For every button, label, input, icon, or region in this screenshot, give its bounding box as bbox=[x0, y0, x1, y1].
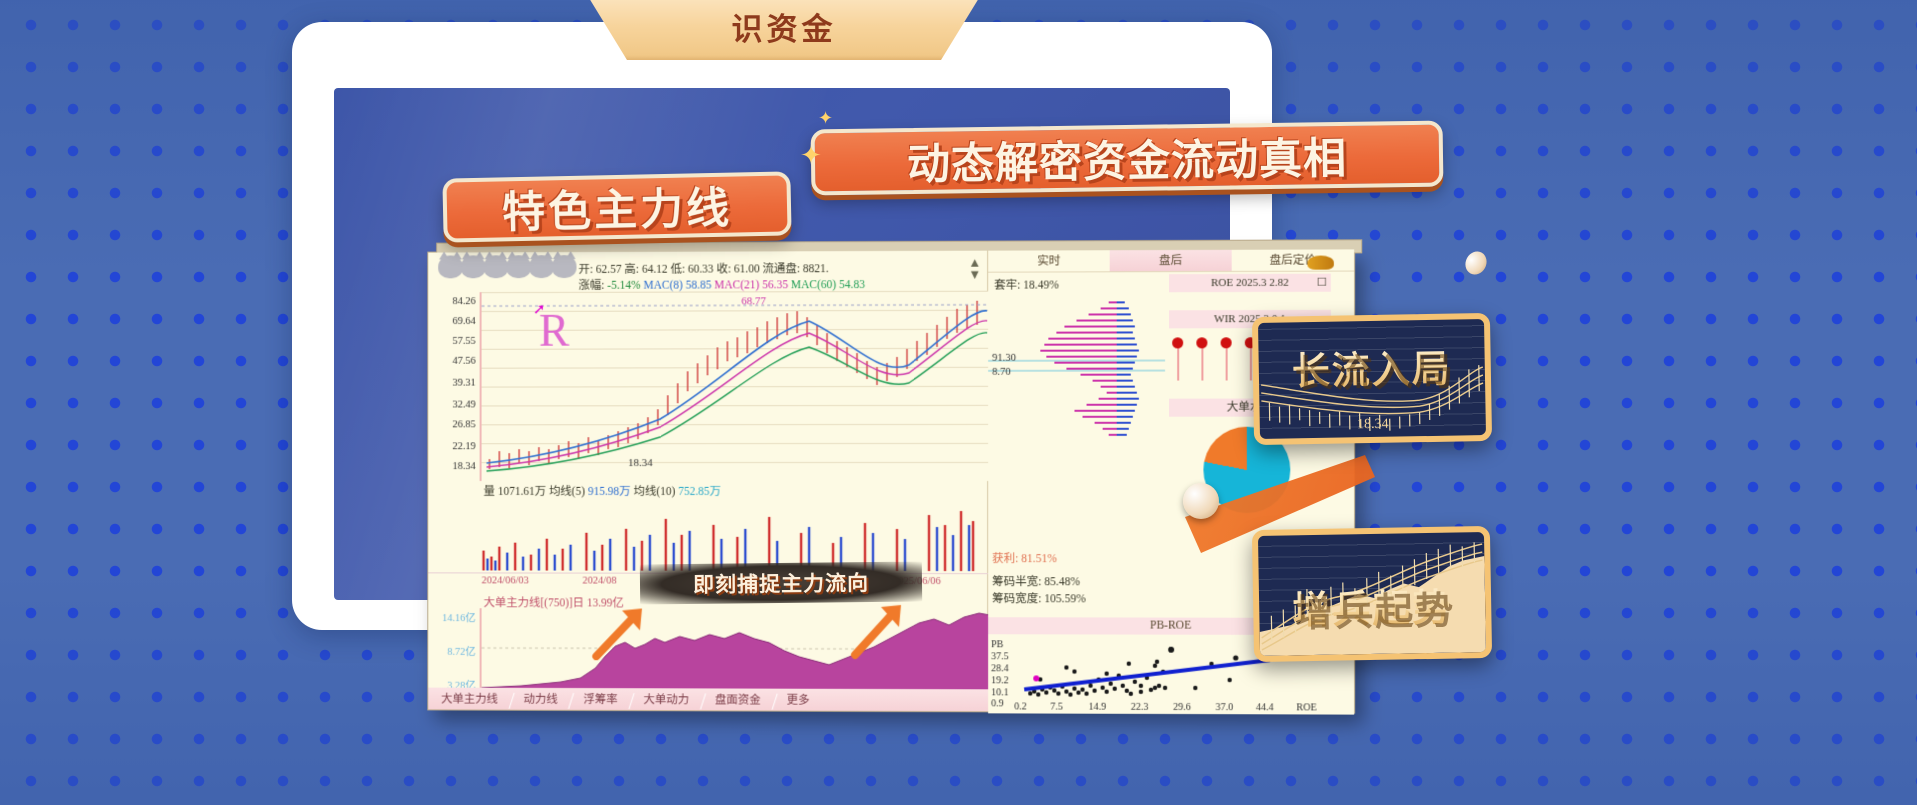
roe-text: ROE 2025.3 2.82 bbox=[1211, 277, 1289, 289]
ribbon-title: 识资金 bbox=[589, 0, 979, 60]
scatter-y-tick: 10.1 bbox=[991, 687, 1009, 698]
y-tick: 69.64 bbox=[452, 316, 475, 327]
volume-bars-svg bbox=[428, 499, 988, 571]
scatter-x-tick: 7.5 bbox=[1050, 702, 1063, 713]
scatter-x-tick: 22.3 bbox=[1131, 702, 1149, 713]
y-tick: 32.49 bbox=[452, 400, 475, 411]
vol-ma5-value: 915.98万 bbox=[588, 486, 631, 498]
y-tick: 47.56 bbox=[452, 356, 475, 367]
scatter-x-tick: 0.2 bbox=[1014, 701, 1027, 712]
top-ribbon-banner: 识资金 bbox=[589, 0, 979, 60]
scatter-y-tick: 0.9 bbox=[991, 698, 1004, 709]
locked-label: 套牢: bbox=[994, 280, 1020, 292]
volume-value: 1071.61万 bbox=[498, 486, 546, 498]
inset-value: 18.34 bbox=[1357, 417, 1389, 434]
chip-width-row: 筹码宽度: 105.59% bbox=[992, 591, 1086, 608]
capture-flow-banner: 即刻捕捉主力流向 bbox=[640, 562, 922, 605]
tab-dadan-momentum[interactable]: 大单动力 bbox=[631, 691, 703, 707]
tab-after-hours-pricing[interactable]: 盘后定价 bbox=[1232, 249, 1354, 271]
y-tick: 22.19 bbox=[452, 441, 475, 452]
width-label: 筹码宽度: bbox=[992, 593, 1041, 605]
orange-up-arrow-icon bbox=[849, 601, 909, 661]
tab-float-chip-rate[interactable]: 浮筹率 bbox=[571, 691, 631, 707]
y-tick: 39.31 bbox=[452, 378, 475, 389]
tab-dadan-main-line[interactable]: 大单主力线 bbox=[428, 691, 510, 707]
scroll-chevrons-icon[interactable]: ▲▼ bbox=[968, 257, 981, 281]
y-tick: 26.85 bbox=[452, 419, 475, 430]
volume-info-line: 量 1071.61万 均线(5) 915.98万 均线(10) 752.85万 bbox=[484, 483, 721, 499]
sparkle-icon: ✦ bbox=[818, 108, 833, 129]
date-tick: 2024/06/03 bbox=[482, 575, 529, 586]
y-tick: 84.26 bbox=[452, 296, 475, 307]
volume-label: 量 bbox=[484, 486, 495, 498]
chip-high-value: 91.30 bbox=[992, 353, 1016, 364]
mascot-strip-icon bbox=[438, 255, 586, 279]
marker-high-value: 68.77 bbox=[741, 295, 766, 307]
mac60-value: 54.83 bbox=[839, 279, 865, 291]
mac21-label: MAC(21) bbox=[714, 279, 759, 291]
locked-position-stat: 套牢: 18.49% bbox=[994, 276, 1059, 292]
lower-y-tick: 14.16亿 bbox=[442, 610, 476, 625]
chip-low-value: 8.70 bbox=[992, 367, 1010, 378]
y-tick: 18.34 bbox=[452, 461, 475, 472]
scatter-x-tick: 37.0 bbox=[1216, 702, 1234, 713]
sparkle-icon: ✦ bbox=[800, 140, 822, 171]
chip-histogram-svg bbox=[988, 294, 1165, 545]
inset-title: 长流入局 bbox=[1258, 337, 1485, 396]
headline-badge-feature-line: 特色主力线 bbox=[442, 171, 791, 242]
up-arrow-icon: ➚ bbox=[533, 300, 545, 318]
roe-indicator-box[interactable]: ROE 2025.3 2.82 ☐ bbox=[1169, 274, 1331, 293]
profit-value: 81.51% bbox=[1021, 553, 1057, 565]
volume-chart-area[interactable] bbox=[428, 499, 988, 571]
mac8-label: MAC(8) bbox=[643, 280, 682, 292]
bottom-tab-bar[interactable]: 大单主力线 动力线 浮筹率 大单动力 盘面资金 更多 bbox=[428, 688, 988, 712]
half-width-value: 85.48% bbox=[1044, 576, 1080, 588]
scatter-x-tick: 44.4 bbox=[1256, 702, 1274, 713]
lower-panel-y-axis: 14.16亿 8.72亿 3.28亿 bbox=[432, 610, 477, 690]
lower-y-tick: 8.72亿 bbox=[447, 644, 476, 659]
candlestick-plot[interactable]: R ➚ 68.77 18.34 bbox=[480, 291, 989, 481]
inset-title: 增兵起势 bbox=[1259, 576, 1486, 635]
scatter-x-tick: 29.6 bbox=[1173, 702, 1191, 713]
tab-momentum-line[interactable]: 动力线 bbox=[511, 691, 571, 707]
price-y-axis: 84.26 69.64 57.55 47.56 39.31 32.49 26.8… bbox=[432, 292, 477, 481]
profit-label: 获利: bbox=[992, 553, 1018, 565]
headline-badge-decrypt-funds: 动态解密资金流动真相 bbox=[811, 121, 1444, 196]
main-force-area-chart[interactable] bbox=[480, 608, 988, 693]
trading-app-window: ▲▼ 开: 62.57 高: 64.12 低: 60.33 收: 61.00 流… bbox=[427, 248, 1355, 713]
expand-icon[interactable]: ☐ bbox=[1317, 274, 1327, 292]
scatter-y-tick: 28.4 bbox=[991, 663, 1009, 674]
width-value: 105.59% bbox=[1044, 593, 1085, 605]
tab-market-funds[interactable]: 盘面资金 bbox=[702, 691, 774, 707]
chip-distribution-chart[interactable]: 91.30 8.70 bbox=[988, 294, 1165, 545]
profit-ratio-row: 获利: 81.51% bbox=[992, 551, 1086, 568]
chip-statistics: 获利: 81.51% 筹码半宽: 85.48% 筹码宽度: 105.59% bbox=[992, 551, 1086, 608]
mac8-value: 58.85 bbox=[686, 280, 712, 292]
change-value: -5.14% bbox=[607, 280, 640, 292]
y-tick: 57.55 bbox=[452, 336, 475, 347]
quote-header-line-1: 开: 62.57 高: 64.12 低: 60.33 收: 61.00 流通盘:… bbox=[579, 260, 829, 277]
vol-ma10-value: 752.85万 bbox=[678, 486, 721, 498]
scatter-x-label: ROE bbox=[1296, 702, 1316, 713]
chart-column: ▲▼ 开: 62.57 高: 64.12 低: 60.33 收: 61.00 流… bbox=[428, 251, 988, 712]
locked-value: 18.49% bbox=[1023, 279, 1059, 291]
tab-after-hours[interactable]: 盘后 bbox=[1110, 250, 1232, 271]
change-label: 涨幅: bbox=[579, 280, 605, 292]
chip-half-width-row: 筹码半宽: 85.48% bbox=[992, 574, 1086, 591]
tab-realtime[interactable]: 实时 bbox=[988, 250, 1110, 271]
mac21-value: 56.35 bbox=[762, 279, 788, 291]
price-chart-area[interactable]: 84.26 69.64 57.55 47.56 39.31 32.49 26.8… bbox=[428, 291, 988, 481]
scatter-y-label: PB bbox=[991, 639, 1003, 650]
app-logo-icon bbox=[1308, 256, 1334, 270]
sphere-decoration bbox=[1183, 483, 1219, 519]
scatter-y-tick: 37.5 bbox=[991, 651, 1009, 662]
inset-troop-buildup: 增兵起势 bbox=[1252, 526, 1492, 662]
marker-low-value: 18.34 bbox=[628, 457, 653, 469]
inset-long-inflow: 长流入局 18.34 bbox=[1252, 313, 1492, 445]
vol-ma5-label: 均线(5) bbox=[549, 486, 585, 498]
vol-ma10-label: 均线(10) bbox=[633, 486, 675, 498]
tab-more[interactable]: 更多 bbox=[774, 692, 823, 708]
right-tab-bar[interactable]: 实时 盘后 盘后定价 bbox=[988, 249, 1354, 272]
half-width-label: 筹码半宽: bbox=[992, 576, 1041, 588]
mac60-label: MAC(60) bbox=[791, 279, 836, 291]
date-tick: 2024/08 bbox=[582, 576, 616, 587]
scatter-y-tick: 19.2 bbox=[991, 675, 1009, 686]
orange-up-arrow-icon bbox=[590, 604, 650, 660]
main-force-svg bbox=[482, 608, 991, 693]
scatter-x-tick: 14.9 bbox=[1089, 702, 1107, 713]
